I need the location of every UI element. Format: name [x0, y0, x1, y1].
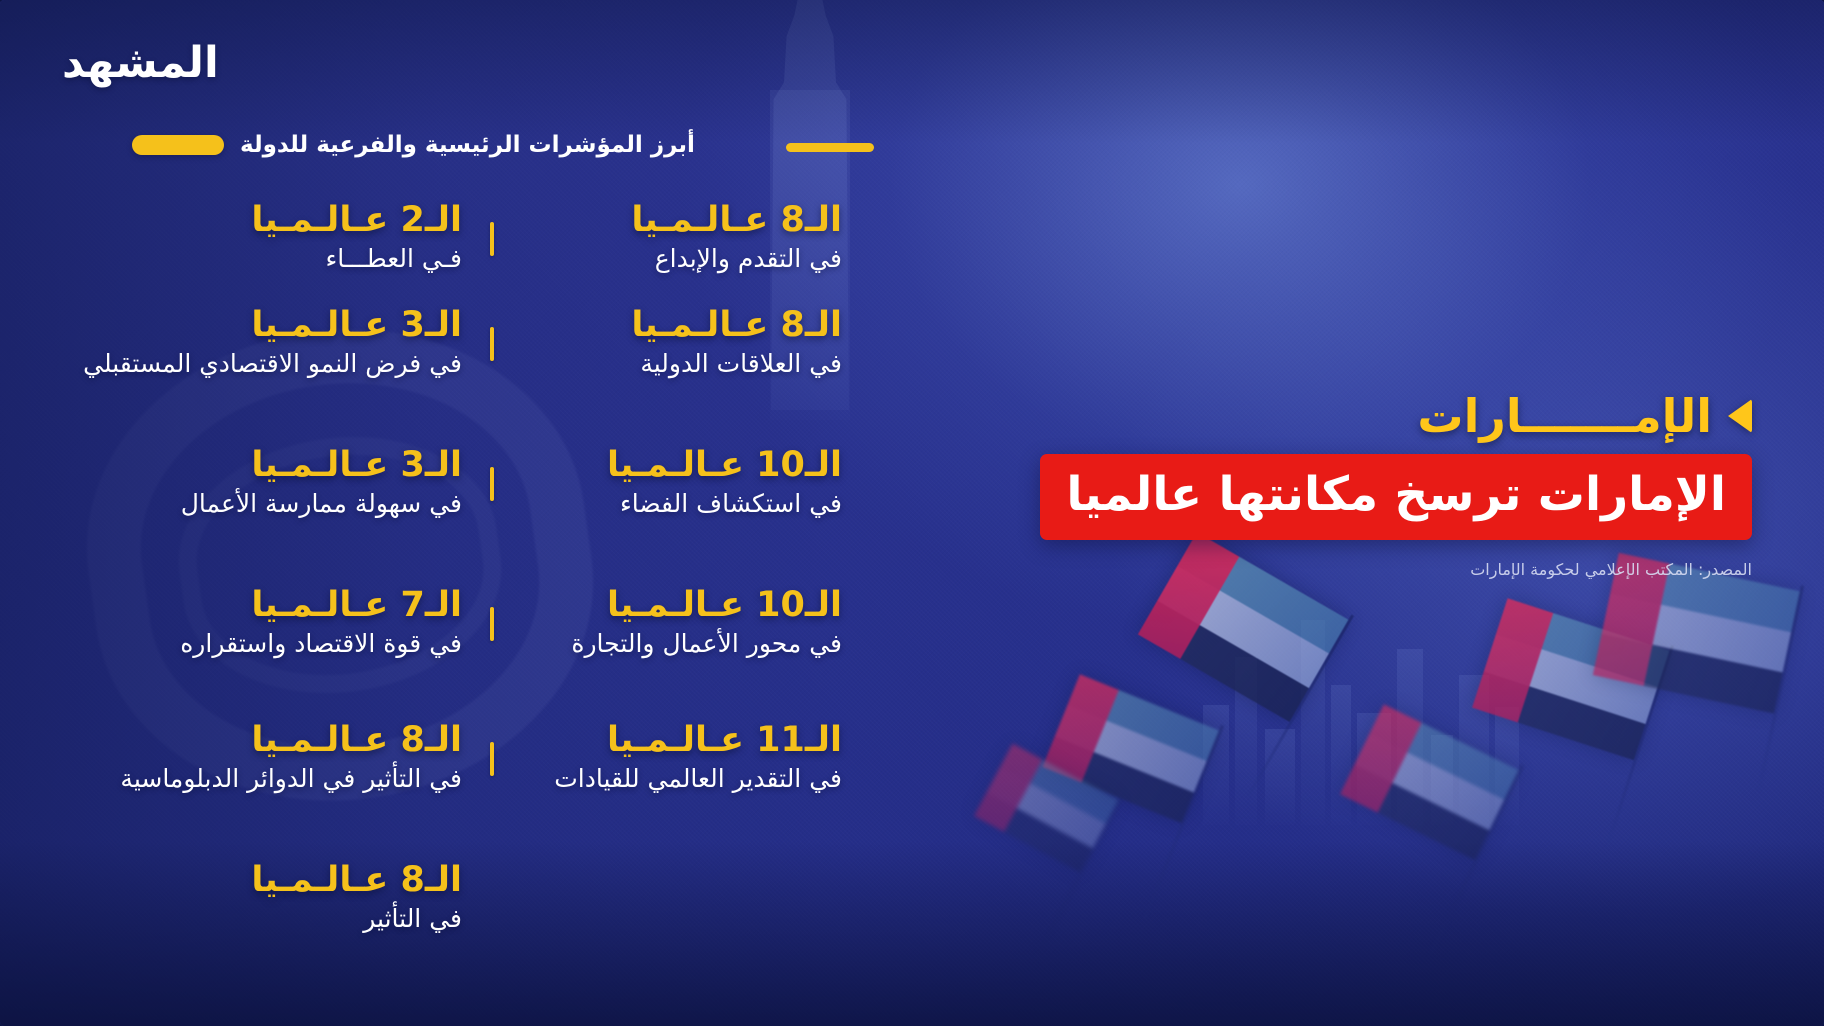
stat-description: في سهولة ممارسة الأعمال [82, 488, 462, 520]
headline-text: الإمارات ترسخ مكانتها عالميا [1066, 468, 1726, 522]
stat-description: في محور الأعمال والتجارة [462, 628, 842, 660]
stat-item: الـ8 عـالـمـيافي العلاقات الدولية [462, 305, 842, 379]
stat-item: الـ8 عـالـمـيافي التأثير في الدوائر الدب… [82, 720, 462, 794]
brand-logo: المشهد [62, 38, 219, 88]
kicker-text: الإمـــــــارات [1417, 392, 1712, 440]
kicker-row: الإمـــــــارات [952, 392, 1752, 440]
stat-rank: الـ7 عـالـمـيا [82, 585, 462, 626]
subtitle-dash-icon [786, 143, 874, 152]
stat-rank: الـ11 عـالـمـيا [462, 720, 842, 761]
subtitle-row: أبرز المؤشرات الرئيسية والفرعية للدولة [132, 132, 695, 158]
stat-description: في التأثير [82, 903, 462, 935]
stat-description: في العلاقات الدولية [462, 348, 842, 380]
stat-item: الـ8 عـالـمـيافي التأثير [82, 860, 462, 934]
stat-item: الـ8 عـالـمـيافي التقدم والإبداع [462, 200, 842, 274]
stats-column-left: الـ8 عـالـمـيافي التقدم والإبداعالـ8 عـا… [462, 200, 842, 990]
subtitle-accent-pill-icon [132, 135, 224, 155]
stat-description: في قوة الاقتصاد واستقراره [82, 628, 462, 660]
stat-description: في فرض النمو الاقتصادي المستقبلي [82, 348, 462, 380]
source-text: المصدر: المكتب الإعلامي لحكومة الإمارات [952, 560, 1752, 579]
stat-rank: الـ8 عـالـمـيا [462, 305, 842, 346]
stat-rank: الـ8 عـالـمـيا [82, 720, 462, 761]
stat-item: الـ11 عـالـمـيافي التقدير العالمي للقياد… [462, 720, 842, 794]
stats-column-right: الـ2 عـالـمـيافـي العطـــاءالـ3 عـالـمـي… [82, 200, 462, 990]
stat-description: في التقدير العالمي للقيادات [462, 763, 842, 795]
stat-rank: الـ3 عـالـمـيا [82, 445, 462, 486]
stat-item: الـ10 عـالـمـيافي استكشاف الفضاء [462, 445, 842, 519]
stat-item: الـ3 عـالـمـيافي فرض النمو الاقتصادي الم… [82, 305, 462, 379]
stat-description: في التقدم والإبداع [462, 243, 842, 275]
stat-rank: الـ10 عـالـمـيا [462, 585, 842, 626]
stat-rank: الـ8 عـالـمـيا [462, 200, 842, 241]
headline-banner: الإمارات ترسخ مكانتها عالميا [1040, 454, 1752, 540]
stat-rank: الـ3 عـالـمـيا [82, 305, 462, 346]
stat-rank: الـ2 عـالـمـيا [82, 200, 462, 241]
stat-item: الـ10 عـالـمـيافي محور الأعمال والتجارة [462, 585, 842, 659]
title-block: الإمـــــــارات الإمارات ترسخ مكانتها عا… [952, 392, 1752, 579]
infographic-canvas: المشهد أبرز المؤشرات الرئيسية والفرعية ل… [0, 0, 1824, 1026]
stat-rank: الـ10 عـالـمـيا [462, 445, 842, 486]
stat-item: الـ2 عـالـمـيافـي العطـــاء [82, 200, 462, 274]
stats-area: الـ2 عـالـمـيافـي العطـــاءالـ3 عـالـمـي… [60, 200, 890, 990]
stat-description: في التأثير في الدوائر الدبلوماسية [82, 763, 462, 795]
play-triangle-icon [1728, 399, 1752, 433]
stat-description: في استكشاف الفضاء [462, 488, 842, 520]
stat-rank: الـ8 عـالـمـيا [82, 860, 462, 901]
stat-item: الـ7 عـالـمـيافي قوة الاقتصاد واستقراره [82, 585, 462, 659]
stat-item: الـ3 عـالـمـيافي سهولة ممارسة الأعمال [82, 445, 462, 519]
stat-description: فـي العطـــاء [82, 243, 462, 275]
subtitle-text: أبرز المؤشرات الرئيسية والفرعية للدولة [240, 132, 695, 158]
